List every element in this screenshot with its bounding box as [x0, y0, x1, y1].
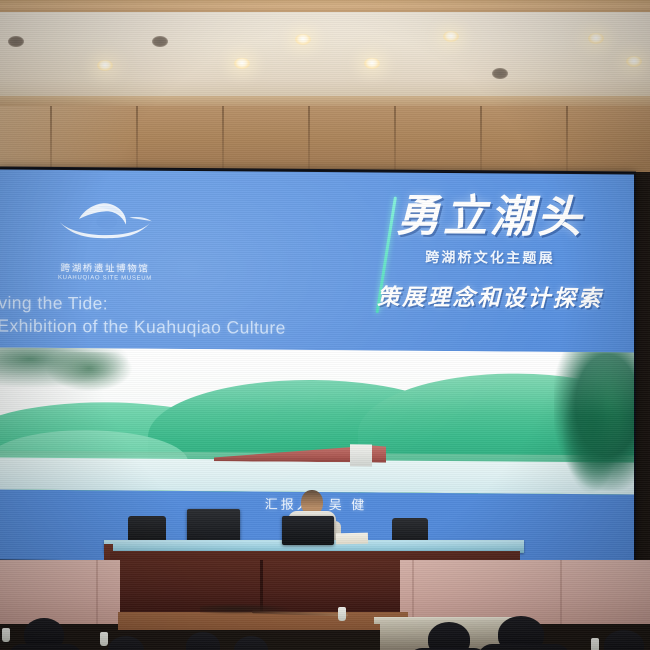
- english-line-2: n Exhibition of the Kuahuqiao Culture: [0, 314, 286, 339]
- ceiling-downlight-icon: [364, 58, 380, 69]
- ceiling-downlight-icon: [588, 33, 604, 44]
- ceiling-speaker-icon: [152, 36, 168, 47]
- wall-panel-seam: [566, 106, 568, 172]
- museum-logo: 跨湖桥遗址博物馆 KUAHUQIAO SITE MUSEUM: [30, 198, 180, 282]
- wall-panel-seam: [480, 106, 482, 172]
- audience-shoulders: [478, 644, 570, 650]
- lower-wall-seam: [96, 560, 98, 624]
- ceiling-downlight-icon: [97, 60, 113, 71]
- water-bottle: [591, 638, 599, 650]
- audience-head: [428, 622, 470, 650]
- audience-area: [0, 560, 650, 650]
- ceiling-downlight-icon: [234, 58, 250, 69]
- museum-name-cn: 跨湖桥遗址博物馆: [30, 260, 180, 275]
- chair: [128, 516, 166, 543]
- water-bottle: [100, 632, 108, 646]
- wall-panel-seam: [308, 106, 310, 172]
- wall-panel-seam: [136, 106, 138, 172]
- presenter-laptop: [282, 516, 334, 545]
- ceiling-downlight-icon: [443, 31, 459, 42]
- wall-panel-seam: [50, 106, 52, 172]
- slide-title-main: 勇立潮头: [364, 194, 616, 241]
- audience-head: [604, 630, 644, 650]
- slide-title-sub: 跨湖桥文化主题展: [364, 246, 616, 268]
- slide-english-subtitle: raving the Tide: n Exhibition of the Kua…: [0, 291, 286, 340]
- wall-panel-seam: [222, 106, 224, 172]
- wall-highlight: [0, 106, 140, 172]
- english-line-1: raving the Tide:: [0, 291, 286, 316]
- slide-landscape-photo: [0, 348, 634, 495]
- stage-floor-edge: [118, 612, 408, 630]
- ceiling-downlight-icon: [626, 56, 642, 67]
- slide-title-block: 勇立潮头 跨湖桥文化主题展 策展理念和设计探索: [364, 194, 616, 313]
- boat-logo-icon: [53, 198, 157, 251]
- lower-wall-seam: [560, 560, 562, 624]
- slide-title-third: 策展理念和设计探索: [364, 279, 616, 313]
- water-bottle: [2, 628, 10, 642]
- documents: [336, 533, 368, 545]
- presentation-hall-photo: 跨湖桥遗址博物馆 KUAHUQIAO SITE MUSEUM 勇立潮头 跨湖桥文…: [0, 0, 650, 650]
- audience-head: [108, 636, 144, 650]
- photo-haze: [0, 348, 634, 495]
- ceiling-soffit: [0, 12, 650, 100]
- wall-panel-seam: [394, 106, 396, 172]
- ceiling-speaker-icon: [492, 68, 508, 79]
- ceiling-speaker-icon: [8, 36, 24, 47]
- desktop-monitor: [187, 509, 240, 542]
- water-bottle: [338, 607, 346, 621]
- audience-shoulders: [8, 644, 82, 650]
- audience-head: [186, 632, 220, 650]
- ceiling-downlight-icon: [295, 34, 311, 45]
- lower-wall-seam: [412, 560, 414, 624]
- museum-name-en: KUAHUQIAO SITE MUSEUM: [30, 275, 180, 282]
- audience-head: [234, 636, 268, 650]
